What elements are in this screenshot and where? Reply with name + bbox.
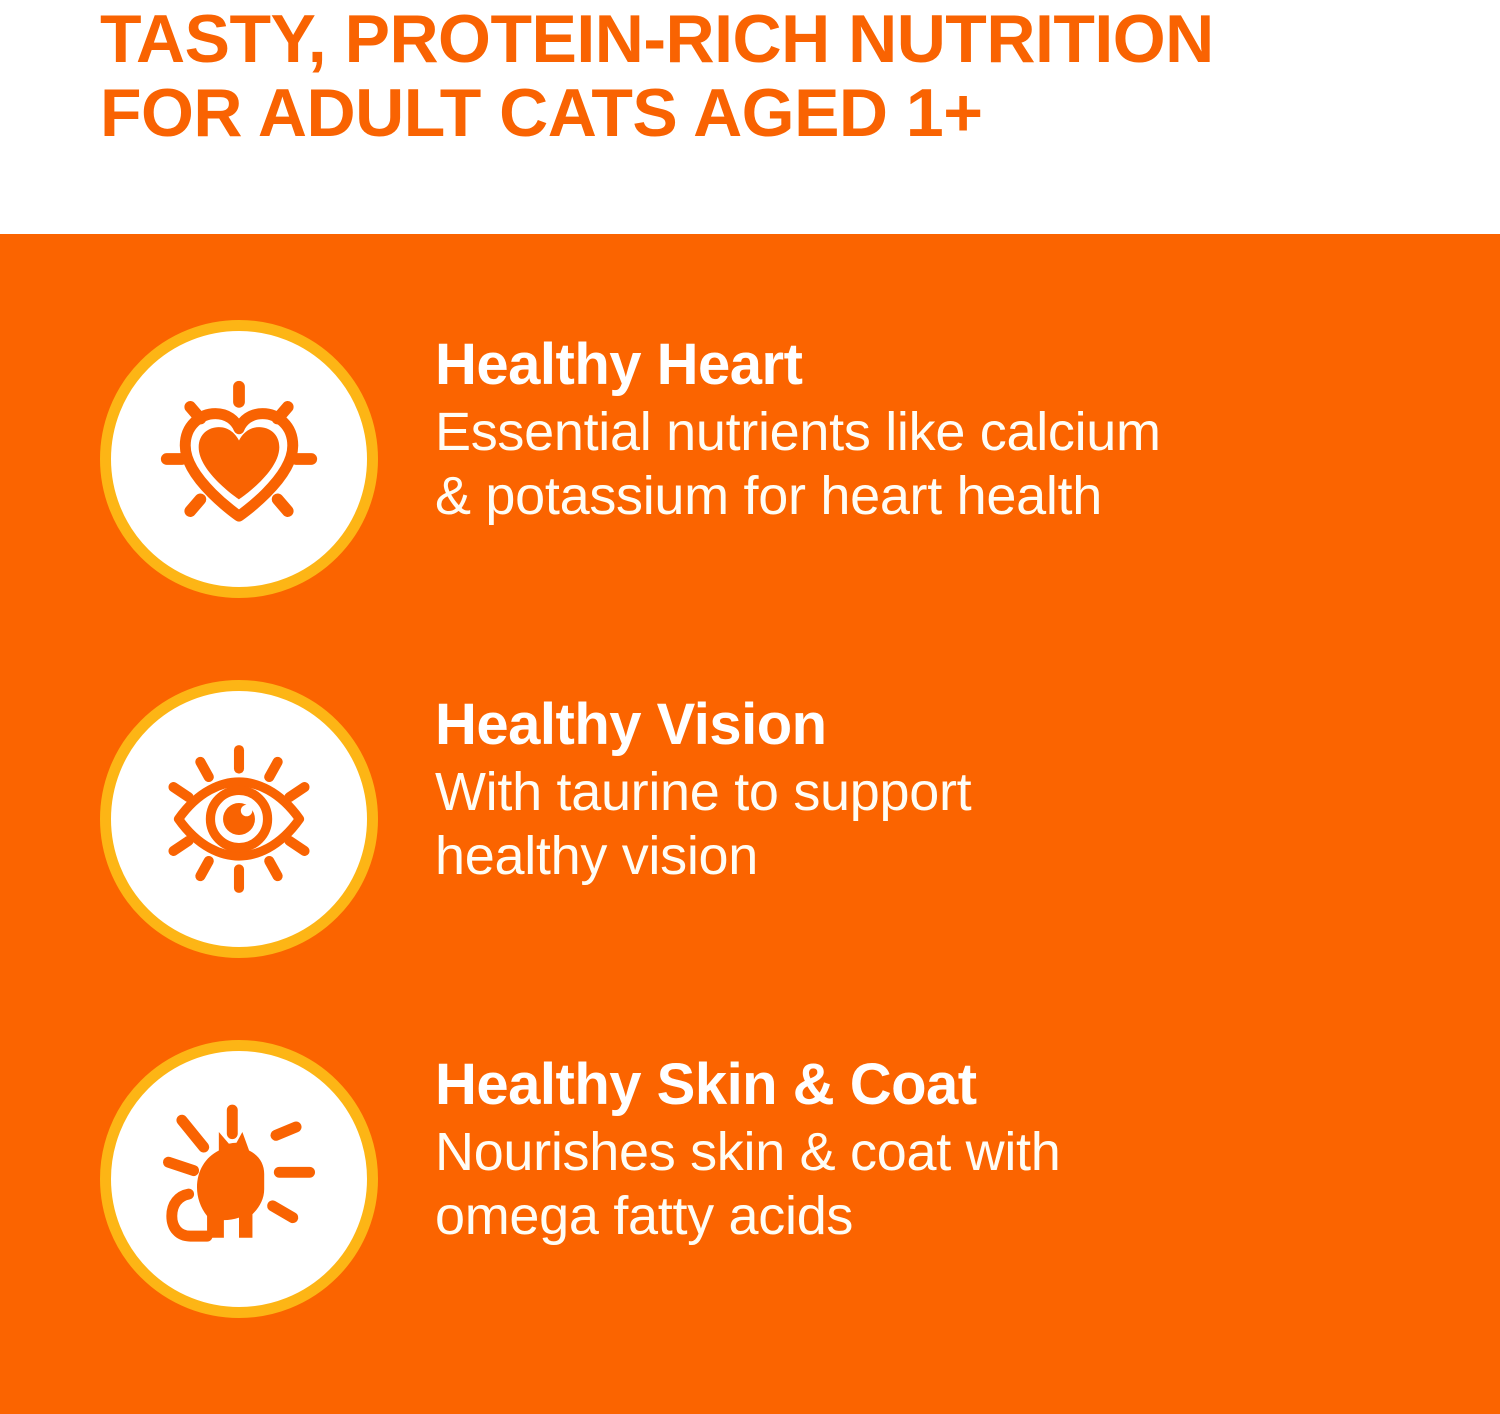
benefit-description: With taurine to support healthy vision	[435, 756, 1400, 888]
benefit-icon-badge	[100, 1040, 378, 1318]
benefit-text: Healthy Vision With taurine to support h…	[378, 680, 1400, 888]
radiant-eye-icon	[155, 735, 323, 903]
benefit-description: Nourishes skin & coat with omega fatty a…	[435, 1116, 1400, 1248]
benefit-description: Essential nutrients like calcium & potas…	[435, 396, 1400, 528]
benefit-icon-badge	[100, 680, 378, 958]
product-benefits-infographic: TASTY, PROTEIN-RICH NUTRITION FOR ADULT …	[0, 0, 1500, 1414]
benefit-title: Healthy Vision	[435, 694, 1400, 756]
page-title: TASTY, PROTEIN-RICH NUTRITION FOR ADULT …	[100, 0, 1500, 150]
benefit-item: Healthy Vision With taurine to support h…	[100, 680, 1400, 960]
benefit-icon-badge	[100, 320, 378, 598]
benefits-list: Healthy Heart Essential nutrients like c…	[0, 234, 1500, 1414]
header-band: TASTY, PROTEIN-RICH NUTRITION FOR ADULT …	[0, 0, 1500, 234]
benefit-item: Healthy Heart Essential nutrients like c…	[100, 320, 1400, 600]
benefit-title: Healthy Heart	[435, 334, 1400, 396]
benefit-item: Healthy Skin & Coat Nourishes skin & coa…	[100, 1040, 1400, 1320]
radiant-heart-icon	[155, 375, 323, 543]
benefit-title: Healthy Skin & Coat	[435, 1054, 1400, 1116]
radiant-cat-icon	[155, 1095, 323, 1263]
benefit-text: Healthy Heart Essential nutrients like c…	[378, 320, 1400, 528]
benefit-text: Healthy Skin & Coat Nourishes skin & coa…	[378, 1040, 1400, 1248]
benefits-panel: Healthy Heart Essential nutrients like c…	[0, 234, 1500, 1414]
